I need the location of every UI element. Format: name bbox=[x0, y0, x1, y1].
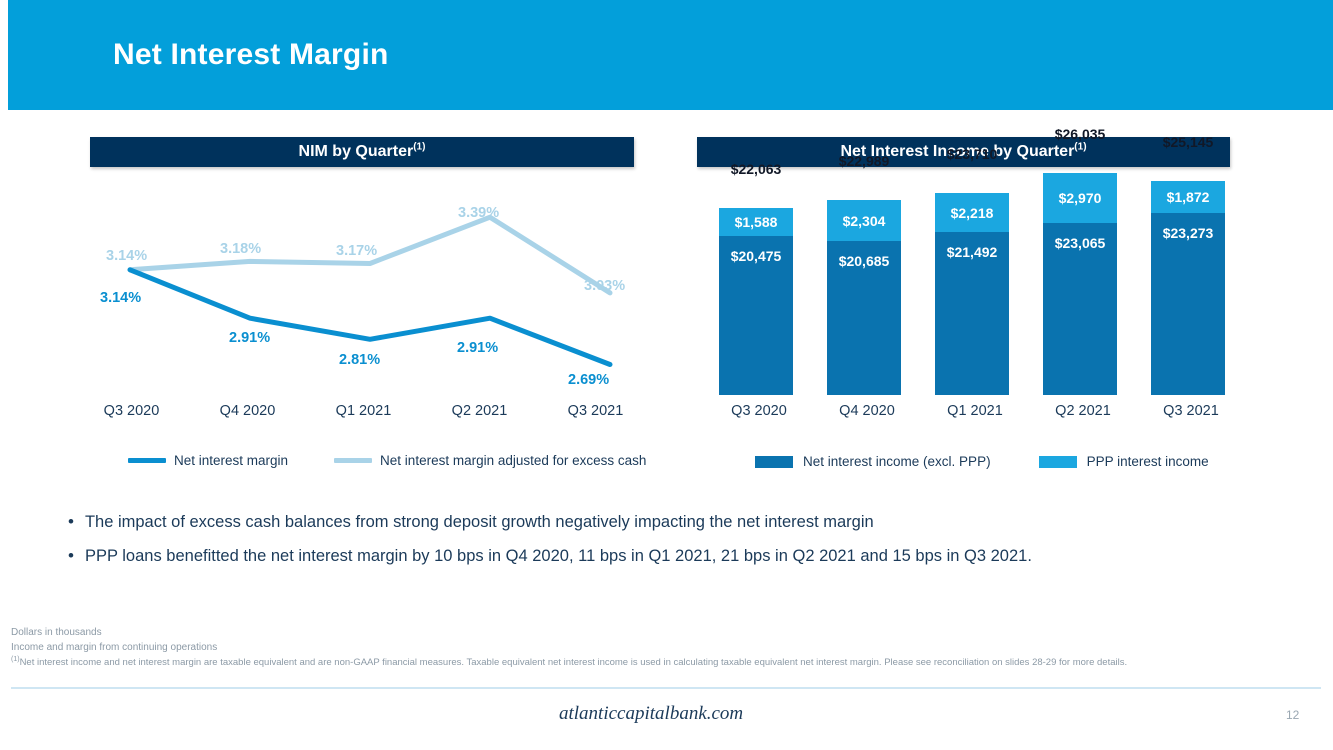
bar-segment-core-label-q3-2021: $23,273 bbox=[1163, 225, 1214, 241]
header-left-accent bbox=[0, 0, 8, 110]
bullet-text-2: PPP loans benefitted the net interest ma… bbox=[85, 546, 1032, 567]
bar-segment-ppp-label-q2-2021: $2,970 bbox=[1059, 190, 1102, 206]
legend-item-nim-adjusted: Net interest margin adjusted for excess … bbox=[334, 453, 646, 468]
legend-item-ppp-interest-income: PPP interest income bbox=[1039, 454, 1209, 469]
bar-segment-ppp-q3-2020: $1,588 bbox=[719, 208, 793, 236]
nim-axis-label-q1-2021: Q1 2021 bbox=[306, 403, 421, 419]
footnotes-block: Dollars in thousands Income and margin f… bbox=[11, 625, 1311, 670]
bar-total-q2-2021: $26,035 bbox=[1055, 126, 1106, 142]
bar-segment-core-label-q2-2021: $23,065 bbox=[1055, 235, 1106, 251]
nim-adjusted-label-q1-2021: 3.17% bbox=[336, 243, 377, 259]
bar-total-q3-2021: $25,145 bbox=[1163, 134, 1214, 150]
footnote-marker: (1) bbox=[11, 656, 20, 663]
legend-swatch-net-interest-margin-icon bbox=[128, 458, 166, 463]
nim-label-q1-2021: 2.81% bbox=[339, 352, 380, 368]
footnote-line-2: Income and margin from continuing operat… bbox=[11, 640, 1311, 655]
bullet-text-1: The impact of excess cash balances from … bbox=[85, 512, 874, 533]
bar-group-q3-2021: $25,145 $1,872 $23,273 bbox=[1151, 181, 1225, 395]
legend-label-nim-adjusted: Net interest margin adjusted for excess … bbox=[380, 453, 646, 468]
legend-label-ppp-interest-income: PPP interest income bbox=[1087, 454, 1209, 469]
nim-axis-label-q3-2021: Q3 2021 bbox=[538, 403, 653, 419]
bar-segment-ppp-label-q1-2021: $2,218 bbox=[951, 205, 994, 221]
nim-axis-label-q3-2020: Q3 2020 bbox=[74, 403, 189, 419]
bullet-dot-icon: • bbox=[68, 512, 74, 532]
nim-label-q2-2021: 2.91% bbox=[457, 340, 498, 356]
legend-swatch-ppp-interest-income-icon bbox=[1039, 456, 1077, 468]
footnote-line-3: (1)Net interest income and net interest … bbox=[11, 655, 1311, 670]
bar-segment-ppp-q2-2021: $2,970 bbox=[1043, 173, 1117, 223]
bullet-item-2: • PPP loans benefitted the net interest … bbox=[68, 546, 1248, 567]
legend-label-net-interest-income: Net interest income (excl. PPP) bbox=[803, 454, 991, 469]
nim-line-plot bbox=[90, 180, 650, 430]
nim-line-chart: 3.14% 3.18% 3.17% 3.39% 3.03% 3.14% 2.91… bbox=[90, 180, 650, 430]
bar-segment-core-q4-2020: $20,685 bbox=[827, 241, 901, 395]
bar-group-q2-2021: $26,035 $2,970 $23,065 bbox=[1043, 173, 1117, 395]
bar-segment-core-q3-2021: $23,273 bbox=[1151, 213, 1225, 395]
legend-item-net-interest-income: Net interest income (excl. PPP) bbox=[755, 454, 991, 469]
legend-swatch-net-interest-income-icon bbox=[755, 456, 793, 468]
nim-chart-title-text: NIM by Quarter bbox=[299, 143, 414, 160]
nim-adjusted-label-q3-2020: 3.14% bbox=[106, 248, 147, 264]
bar-total-q1-2021: $23,710 bbox=[947, 146, 998, 162]
nim-adjusted-label-q4-2020: 3.18% bbox=[220, 241, 261, 257]
bar-segment-core-q3-2020: $20,475 bbox=[719, 236, 793, 395]
nim-adjusted-label-q2-2021: 3.39% bbox=[458, 205, 499, 221]
nii-chart-legend: Net interest income (excl. PPP) PPP inte… bbox=[755, 454, 1209, 469]
bar-segment-core-label-q3-2020: $20,475 bbox=[731, 248, 782, 264]
bar-group-q4-2020: $22,989 $2,304 $20,685 bbox=[827, 200, 901, 395]
nim-label-q3-2021: 2.69% bbox=[568, 372, 609, 388]
page-title: Net Interest Margin bbox=[113, 38, 389, 72]
nim-chart-title: NIM by Quarter(1) bbox=[90, 137, 634, 167]
bar-segment-core-q1-2021: $21,492 bbox=[935, 232, 1009, 395]
nim-label-q4-2020: 2.91% bbox=[229, 330, 270, 346]
bar-segment-ppp-label-q4-2020: $2,304 bbox=[843, 213, 886, 229]
bar-segment-ppp-q1-2021: $2,218 bbox=[935, 193, 1009, 232]
footer-website-url: atlanticcapitalbank.com bbox=[559, 703, 743, 725]
bar-segment-core-label-q4-2020: $20,685 bbox=[839, 253, 890, 269]
nii-axis-label-q4-2020: Q4 2020 bbox=[810, 403, 924, 419]
bar-segment-ppp-label-q3-2020: $1,588 bbox=[735, 214, 778, 230]
nim-axis-label-q2-2021: Q2 2021 bbox=[422, 403, 537, 419]
bar-segment-core-q2-2021: $23,065 bbox=[1043, 223, 1117, 395]
line-series-nim bbox=[130, 270, 610, 365]
bar-segment-core-label-q1-2021: $21,492 bbox=[947, 244, 998, 260]
bar-group-q3-2020: $22,063 $1,588 $20,475 bbox=[719, 208, 793, 395]
nim-adjusted-label-q3-2021: 3.03% bbox=[584, 278, 625, 294]
nii-chart-title-footnote: (1) bbox=[1074, 142, 1086, 153]
nim-label-q3-2020: 3.14% bbox=[100, 290, 141, 306]
nim-chart-legend: Net interest margin Net interest margin … bbox=[128, 453, 646, 468]
footnote-line-3-text: Net interest income and net interest mar… bbox=[20, 657, 1128, 668]
nii-bar-chart: $22,063 $1,588 $20,475 $22,989 $2,304 $2… bbox=[697, 175, 1237, 395]
page-number: 12 bbox=[1286, 708, 1299, 722]
slide-root: Net Interest Margin NIM by Quarter(1) Ne… bbox=[0, 0, 1333, 750]
bullet-dot-icon: • bbox=[68, 546, 74, 566]
bullet-list: • The impact of excess cash balances fro… bbox=[68, 512, 1248, 580]
nii-axis-label-q3-2021: Q3 2021 bbox=[1134, 403, 1248, 419]
footnote-line-1: Dollars in thousands bbox=[11, 625, 1311, 640]
legend-label-net-interest-margin: Net interest margin bbox=[174, 453, 288, 468]
nii-axis-label-q3-2020: Q3 2020 bbox=[702, 403, 816, 419]
nii-axis-label-q1-2021: Q1 2021 bbox=[918, 403, 1032, 419]
footer-divider bbox=[11, 687, 1321, 689]
bar-total-q3-2020: $22,063 bbox=[731, 161, 782, 177]
bar-segment-ppp-q3-2021: $1,872 bbox=[1151, 181, 1225, 213]
bar-segment-ppp-q4-2020: $2,304 bbox=[827, 200, 901, 241]
nim-chart-title-footnote: (1) bbox=[413, 142, 425, 153]
bar-total-q4-2020: $22,989 bbox=[839, 153, 890, 169]
bar-group-q1-2021: $23,710 $2,218 $21,492 bbox=[935, 193, 1009, 395]
nim-axis-label-q4-2020: Q4 2020 bbox=[190, 403, 305, 419]
nii-axis-label-q2-2021: Q2 2021 bbox=[1026, 403, 1140, 419]
bullet-item-1: • The impact of excess cash balances fro… bbox=[68, 512, 1248, 533]
bar-segment-ppp-label-q3-2021: $1,872 bbox=[1167, 189, 1210, 205]
legend-swatch-nim-adjusted-icon bbox=[334, 458, 372, 463]
legend-item-net-interest-margin: Net interest margin bbox=[128, 453, 288, 468]
